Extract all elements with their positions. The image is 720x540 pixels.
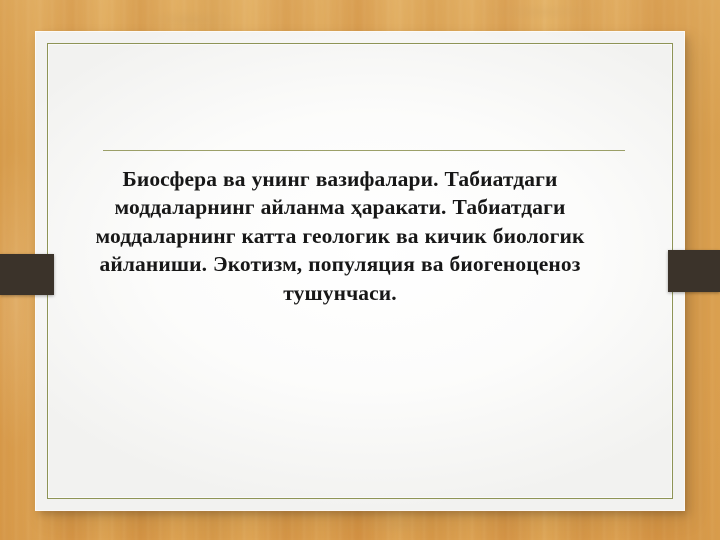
title-line-4: айланиши. Экотизм, популяция ва биогеноц… <box>100 252 581 276</box>
title-line-3: моддаларнинг катта геологик ва кичик био… <box>96 224 585 248</box>
left-accent-bar <box>0 254 54 295</box>
title-line-5: тушунчаси. <box>283 281 397 305</box>
slide-stage: Биосфера ва унинг вазифалари. Табиатдаги… <box>0 0 720 540</box>
title-block: Биосфера ва унинг вазифалари. Табиатдаги… <box>55 150 625 307</box>
right-accent-bar <box>668 250 720 292</box>
title-line-1: Биосфера ва унинг вазифалари. Табиатдаги <box>123 167 558 191</box>
slide-title: Биосфера ва унинг вазифалари. Табиатдаги… <box>55 151 625 307</box>
title-line-2: моддаларнинг айланма ҳаракати. Табиатдаг… <box>115 195 566 219</box>
title-divider-rule <box>103 150 625 151</box>
